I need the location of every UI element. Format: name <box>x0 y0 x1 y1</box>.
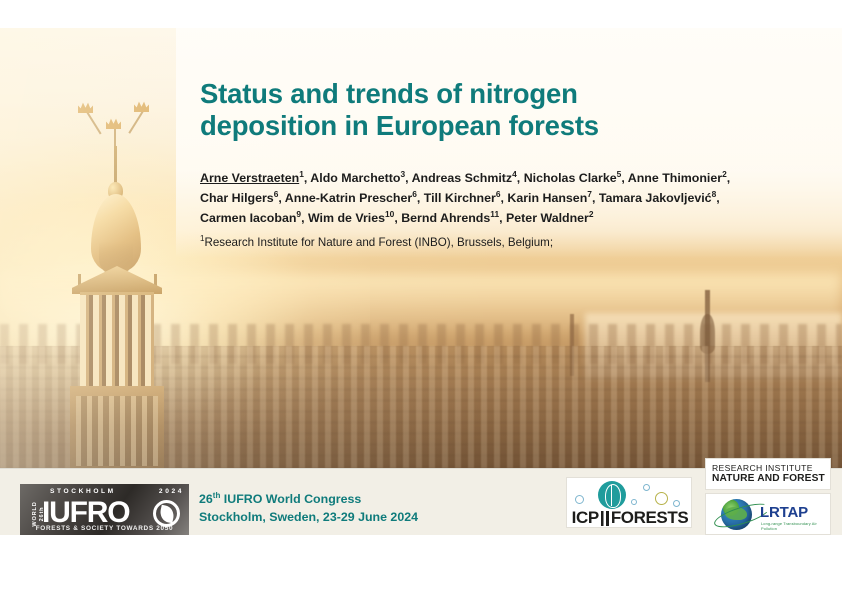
icp-divider-bars <box>601 511 609 526</box>
iufro-logo-tagline: FORESTS & SOCIETY TOWARDS 2050 <box>20 525 189 532</box>
author-affiliation-marker: 6 <box>412 189 417 199</box>
author-name: Carmen Iacoban <box>200 211 296 225</box>
affiliation-line: 1Research Institute for Nature and Fores… <box>200 234 800 250</box>
crown-stalk <box>128 111 143 134</box>
iufro-logo-year: 2024 <box>159 488 184 495</box>
author-name: Arne Verstraeten <box>200 171 299 185</box>
three-crowns-icon <box>76 98 160 132</box>
tower-colonnade <box>80 292 154 388</box>
bubble-icon <box>673 500 680 507</box>
city-hall-tower <box>58 98 178 468</box>
leaf-icon <box>153 500 180 527</box>
author-name: Wim de Vries <box>308 211 385 225</box>
lrtap-subtitle: Long-range Transboundary Air Pollution <box>761 521 829 531</box>
tree-icon <box>598 481 626 509</box>
bubble-icon <box>575 495 584 504</box>
icp-text: ICP <box>572 508 599 528</box>
author-affiliation-marker: 2 <box>589 209 594 219</box>
author-affiliation-marker: 2 <box>722 169 727 179</box>
author-affiliation-marker: 3 <box>400 169 405 179</box>
tower-roof <box>72 266 162 294</box>
bubble-icon <box>631 499 637 505</box>
iufro-congress-logo: STOCKHOLM 2024 WORLD 26th IUFRO FORESTS … <box>20 484 189 535</box>
author-list: Arne Verstraeten1, Aldo Marchetto3, Andr… <box>200 168 758 228</box>
congress-line-1: 26th IUFRO World Congress <box>199 490 418 509</box>
author-affiliation-marker: 5 <box>617 169 622 179</box>
crown-icon <box>106 118 121 129</box>
crown-stalk <box>86 112 101 135</box>
iufro-logo-city-year: STOCKHOLM 2024 <box>50 488 184 495</box>
author-name: Anne-Katrin Prescher <box>285 191 412 205</box>
congress-caption: 26th IUFRO World Congress Stockholm, Swe… <box>199 490 418 526</box>
title-line-2: deposition in European forests <box>200 110 800 142</box>
slide-footer: STOCKHOLM 2024 WORLD 26th IUFRO FORESTS … <box>0 468 842 535</box>
author-name: Andreas Schmitz <box>412 171 513 185</box>
bubble-icon <box>655 492 668 505</box>
lrtap-wordmark: LRTAP <box>760 504 808 521</box>
author-affiliation-marker: 11 <box>490 209 499 219</box>
iufro-logo-city: STOCKHOLM <box>50 488 116 495</box>
inbo-line-1: RESEARCH INSTITUTE <box>712 463 830 473</box>
tower-dome <box>91 194 141 272</box>
affiliation-text: Research Institute for Nature and Forest… <box>204 236 553 249</box>
title-line-1: Status and trends of nitrogen <box>200 78 800 110</box>
iufro-logo-world: WORLD <box>32 501 39 526</box>
author-affiliation-marker: 9 <box>296 209 301 219</box>
lrtap-logo: LRTAP Long-range Transboundary Air Pollu… <box>705 493 831 535</box>
inbo-logo: RESEARCH INSTITUTE NATURE AND FOREST <box>705 458 831 490</box>
congress-name: IUFRO World Congress <box>220 492 361 506</box>
bubble-icon <box>643 484 650 491</box>
author-name: Tamara Jakovljević <box>599 191 712 205</box>
icp-forests-logo: ICP FORESTS <box>566 477 692 528</box>
author-name: Aldo Marchetto <box>310 171 400 185</box>
crown-icon <box>78 102 93 113</box>
forests-text: FORESTS <box>611 508 689 528</box>
author-name: Bernd Ahrends <box>401 211 490 225</box>
author-affiliation-marker: 10 <box>385 209 394 219</box>
author-name: Char Hilgers <box>200 191 274 205</box>
author-name: Peter Waldner <box>506 211 589 225</box>
author-affiliation-marker: 6 <box>274 189 279 199</box>
icp-forests-wordmark: ICP FORESTS <box>567 508 693 528</box>
congress-ordinal: 26 <box>199 492 213 506</box>
author-name: Karin Hansen <box>507 191 587 205</box>
author-affiliation-marker: 4 <box>512 169 517 179</box>
author-affiliation-marker: 8 <box>712 189 717 199</box>
author-name: Till Kirchner <box>424 191 496 205</box>
author-name: Anne Thimonier <box>628 171 722 185</box>
tower-base <box>70 386 164 468</box>
congress-line-2: Stockholm, Sweden, 23-29 June 2024 <box>199 509 418 527</box>
author-affiliation-marker: 6 <box>496 189 501 199</box>
crown-icon <box>134 101 149 112</box>
author-affiliation-marker: 1 <box>299 169 304 179</box>
author-affiliation-marker: 7 <box>587 189 592 199</box>
inbo-line-2: NATURE AND FOREST <box>712 473 830 484</box>
author-name: Nicholas Clarke <box>524 171 617 185</box>
presentation-slide: Status and trends of nitrogen deposition… <box>0 28 842 535</box>
slide-title: Status and trends of nitrogen deposition… <box>200 78 800 142</box>
